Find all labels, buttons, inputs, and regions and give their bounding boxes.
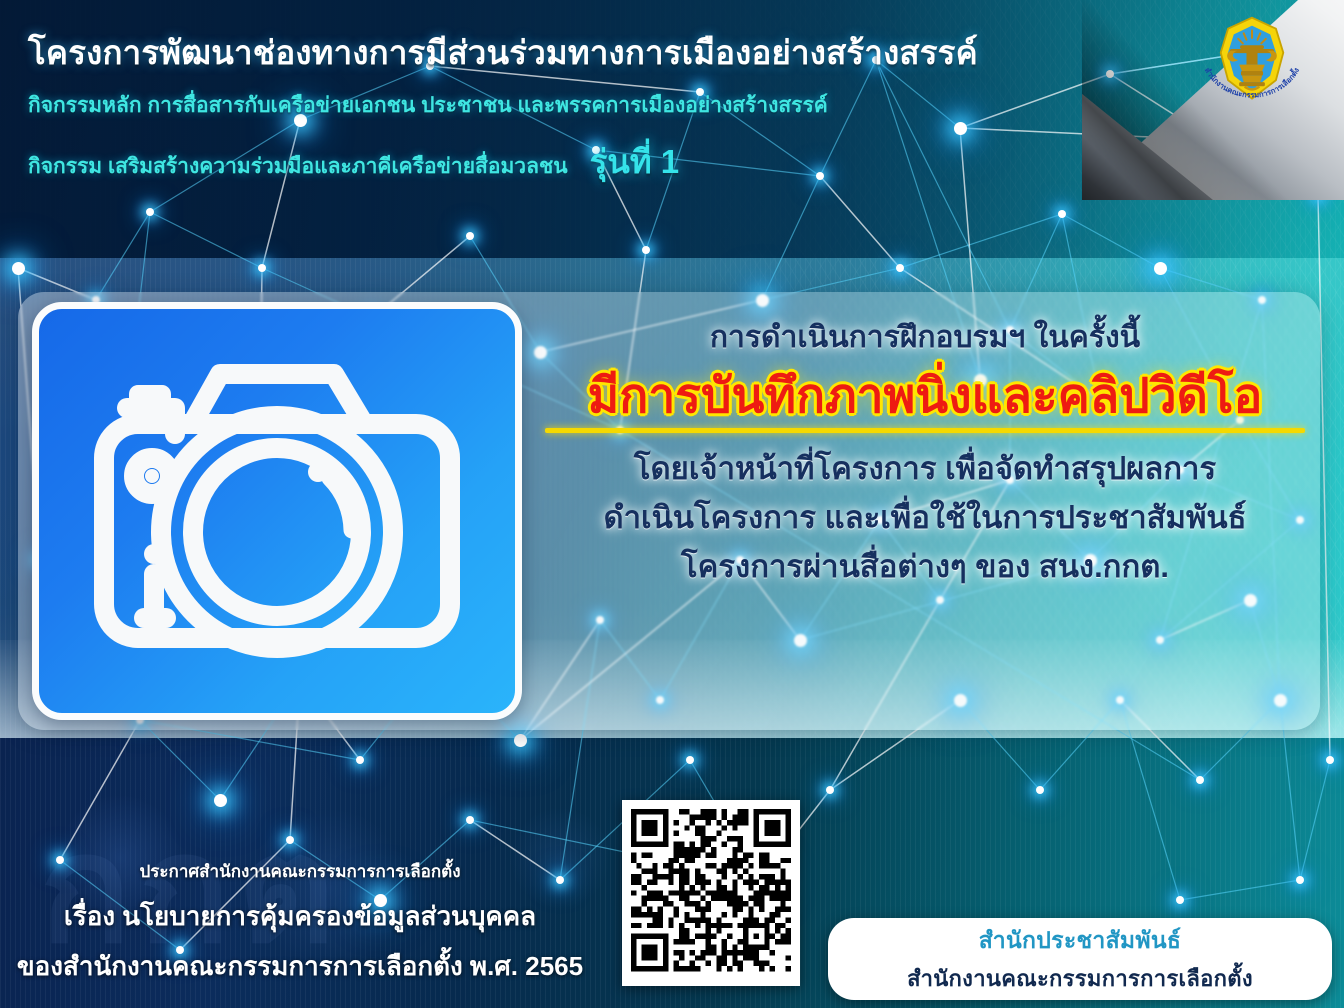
emblem-caption: สำนักงานคณะกรรมการการเลือกตั้ง [1200, 34, 1304, 112]
notice-line-2: โดยเจ้าหน้าที่โครงการ เพื่อจัดทำสรุปผลกา… [530, 453, 1320, 486]
page-title: โครงการพัฒนาช่องทางการมีส่วนร่วมทางการเม… [28, 26, 1148, 79]
publisher-badge: สำนักประชาสัมพันธ์ สำนักงานคณะกรรมการการ… [828, 918, 1332, 1000]
announcement-line-2: เรื่อง นโยบายการคุ้มครองข้อมูลส่วนบุคคล [0, 896, 600, 937]
main-activity-label: กิจกรรมหลัก การสื่อสารกับเครือข่ายเอกชน … [28, 89, 1148, 122]
publisher-office: สำนักประชาสัมพันธ์ [979, 923, 1181, 959]
poster-canvas: กกต โครงการพัฒนาช่องทางการมีส่วนร่วมทางก… [0, 0, 1344, 1008]
notice-line-3: ดำเนินโครงการ และเพื่อใช้ในการประชาสัมพั… [530, 502, 1320, 535]
activity-label: กิจกรรม เสริมสร้างความร่วมมือและภาคีเครื… [28, 150, 568, 183]
announcement-block: ประกาศสำนักงานคณะกรรมการการเลือกตั้ง เรื… [0, 858, 600, 987]
announcement-line-1: ประกาศสำนักงานคณะกรรมการการเลือกตั้ง [0, 858, 600, 885]
notice-line-1: การดำเนินการฝึกอบรมฯ ในครั้งนี้ [530, 322, 1320, 354]
camera-icon [32, 302, 522, 720]
announcement-line-3: ของสำนักงานคณะกรรมการการเลือกตั้ง พ.ศ. 2… [0, 946, 600, 987]
notice-highlight: มีการบันทึกภาพนิ่งและคลิปวิดีโอ [530, 372, 1320, 422]
highlight-underline [545, 428, 1305, 433]
batch-badge: รุ่นที่ 1 [590, 135, 680, 188]
header-block: โครงการพัฒนาช่องทางการมีส่วนร่วมทางการเม… [28, 26, 1148, 188]
ect-emblem-icon: สำนักงานคณะกรรมการการเลือกตั้ง [1206, 14, 1298, 106]
notice-text-block: การดำเนินการฝึกอบรมฯ ในครั้งนี้ มีการบัน… [530, 322, 1320, 584]
svg-text:สำนักงานคณะกรรมการการเลือกตั้ง: สำนักงานคณะกรรมการการเลือกตั้ง [1203, 66, 1301, 100]
qr-code[interactable] [622, 800, 800, 986]
notice-line-4: โครงการผ่านสื่อต่างๆ ของ สนง.กกต. [530, 551, 1320, 584]
publisher-agency: สำนักงานคณะกรรมการการเลือกตั้ง [907, 961, 1253, 996]
